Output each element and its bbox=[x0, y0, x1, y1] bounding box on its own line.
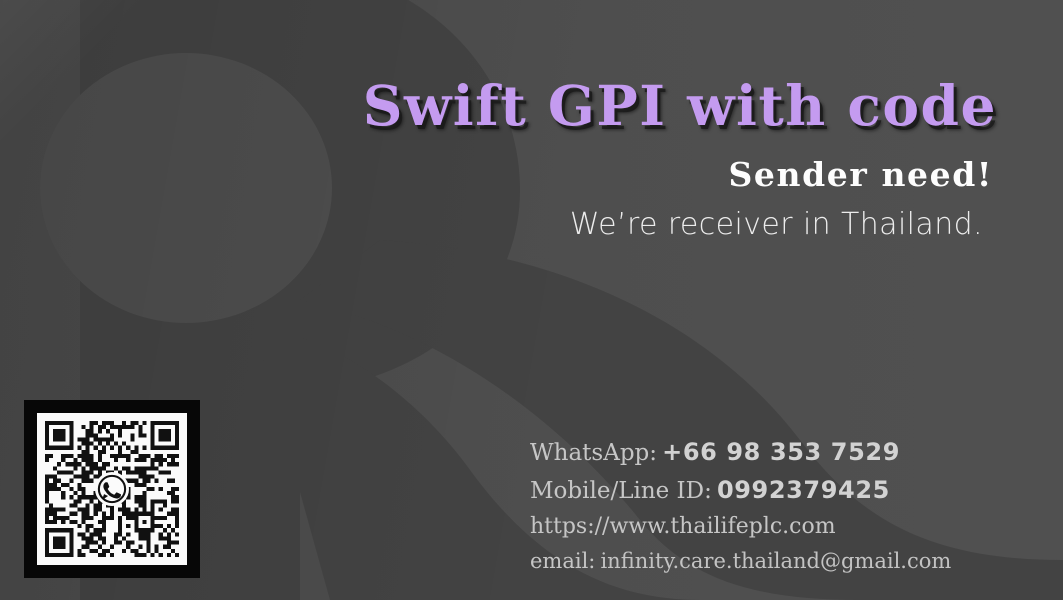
page-title: Swift GPI with code bbox=[363, 78, 997, 133]
qr-code-frame[interactable] bbox=[24, 400, 200, 578]
mobile-line-id-number[interactable]: 0992379425 bbox=[717, 476, 890, 504]
contact-line-mobile: Mobile/Line ID: 0992379425 bbox=[530, 478, 951, 503]
contact-line-email: email: infinity.care.thailand@gmail.com bbox=[530, 551, 951, 572]
mobile-line-id-label: Mobile/Line ID: bbox=[530, 478, 712, 504]
whatsapp-icon bbox=[95, 472, 129, 506]
email-label: email: bbox=[530, 549, 595, 573]
email-address[interactable]: infinity.care.thailand@gmail.com bbox=[600, 549, 951, 573]
whatsapp-number[interactable]: +66 98 353 7529 bbox=[662, 438, 900, 466]
website-link[interactable]: https://www.thailifeplc.com bbox=[530, 514, 836, 539]
qr-code-surface bbox=[37, 413, 187, 565]
contact-line-website: https://www.thailifeplc.com bbox=[530, 516, 951, 538]
headline-tagline: We’re receiver in Thailand. bbox=[570, 210, 983, 240]
headline-subtitle: Sender need! bbox=[728, 158, 993, 191]
contact-line-whatsapp: WhatsApp: +66 98 353 7529 bbox=[530, 440, 951, 465]
qr-code-matrix bbox=[45, 421, 179, 557]
contact-block: WhatsApp: +66 98 353 7529 Mobile/Line ID… bbox=[530, 440, 951, 572]
business-card: Swift GPI with code Sender need! We’re r… bbox=[0, 0, 1063, 600]
whatsapp-label: WhatsApp: bbox=[530, 440, 657, 466]
